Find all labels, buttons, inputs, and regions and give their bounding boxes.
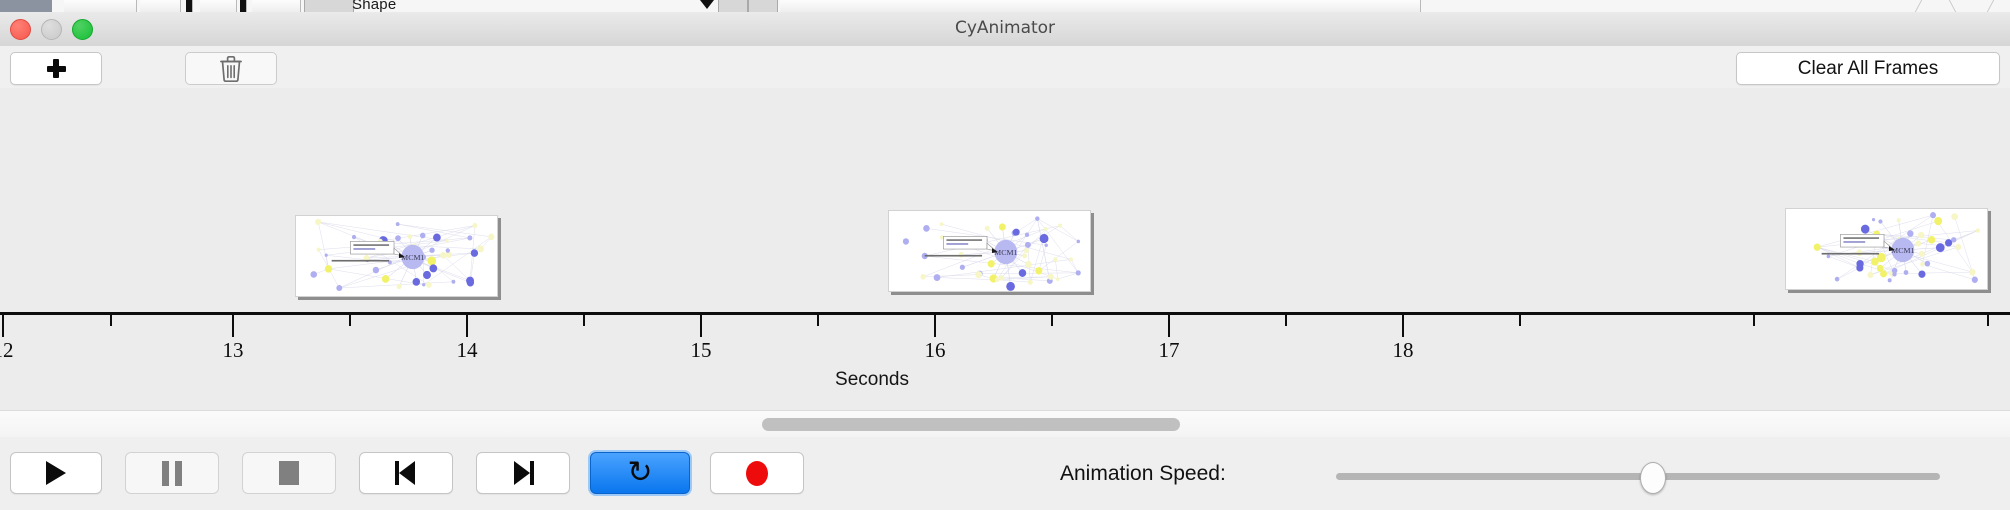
cyanimator-window: Shape CyAnimator Clear All Fr (0, 0, 2010, 510)
ruler-tick-label: 16 (925, 338, 946, 363)
background-app-label: Shape (352, 0, 396, 12)
background-button (748, 0, 778, 12)
skip-back-button[interactable] (359, 452, 453, 494)
record-icon (746, 461, 768, 486)
svg-text:MCM1: MCM1 (1891, 246, 1914, 255)
pause-icon (162, 461, 182, 486)
ruler-tick-major (1402, 315, 1404, 337)
timeline-frame[interactable]: MCM1 (295, 215, 498, 297)
frame-track: MCM1MCM1MCM1 (0, 88, 2010, 312)
ruler-tick-minor (1753, 315, 1755, 326)
background-marker-icon (700, 0, 714, 9)
background-button (718, 0, 748, 12)
ruler-tick-minor (1519, 315, 1521, 326)
svg-text:MCM1: MCM1 (401, 253, 424, 262)
ruler-baseline (0, 312, 2010, 315)
background-segment (252, 0, 301, 12)
pause-button[interactable] (125, 452, 219, 494)
svg-text:MCM1: MCM1 (994, 248, 1017, 257)
ruler-tick-minor (817, 315, 819, 326)
background-button (304, 0, 354, 12)
record-button[interactable] (710, 452, 804, 494)
play-icon (46, 461, 66, 485)
background-dark-block (0, 0, 52, 12)
frame-thumbnail-graph: MCM1 (1786, 209, 1987, 289)
frame-toolbar: Clear All Frames (0, 46, 2010, 89)
timeline-frame[interactable]: MCM1 (1785, 208, 1988, 290)
ruler-tick-label: 14 (457, 338, 478, 363)
ruler-tick-major (934, 315, 936, 337)
background-segment (140, 0, 181, 12)
skip-back-icon (395, 461, 417, 485)
ruler-tick-label: 18 (1393, 338, 1414, 363)
ruler-tick-minor (110, 315, 112, 326)
animation-speed-slider-thumb[interactable] (1640, 462, 1666, 494)
background-segment (64, 0, 137, 12)
ruler-tick-minor (1987, 315, 1989, 326)
playback-bar: ↻ Animation Speed: (0, 437, 2010, 510)
stop-icon (279, 461, 299, 485)
background-segment (240, 0, 247, 12)
skip-forward-icon (512, 461, 534, 485)
plus-icon (47, 59, 66, 78)
ruler-tick-major (232, 315, 234, 337)
ruler-tick-label: 12 (0, 338, 14, 363)
ruler-tick-label: 15 (691, 338, 712, 363)
loop-button[interactable]: ↻ (590, 452, 690, 494)
ruler-tick-minor (1051, 315, 1053, 326)
ruler-tick-label: 13 (223, 338, 244, 363)
background-segment (186, 0, 193, 12)
background-edge (1949, 0, 1956, 12)
delete-frame-button[interactable] (185, 52, 277, 85)
background-app-strip: Shape (0, 0, 2010, 12)
skip-forward-button[interactable] (476, 452, 570, 494)
title-bar[interactable]: CyAnimator (0, 12, 2010, 47)
ruler-tick-label: 17 (1159, 338, 1180, 363)
timeline-frame[interactable]: MCM1 (888, 210, 1091, 292)
clear-all-frames-button[interactable]: Clear All Frames (1736, 52, 2000, 85)
animation-speed-slider[interactable] (1336, 473, 1940, 480)
background-edge (1915, 0, 1922, 12)
ruler-tick-minor (1285, 315, 1287, 326)
frame-thumbnail-graph: MCM1 (296, 216, 497, 296)
animation-speed-label: Animation Speed: (1060, 462, 1226, 486)
trash-icon (220, 56, 242, 82)
window-title: CyAnimator (0, 12, 2010, 46)
ruler-tick-major (466, 315, 468, 337)
ruler-tick-major (700, 315, 702, 337)
play-button[interactable] (10, 452, 102, 494)
ruler-tick-major (2, 315, 4, 337)
background-segment (200, 0, 237, 12)
timeline-scrollbar-thumb[interactable] (762, 418, 1180, 431)
add-frame-button[interactable] (10, 52, 102, 85)
axis-title-label: Seconds (835, 369, 909, 390)
ruler-tick-minor (349, 315, 351, 326)
ruler-tick-minor (583, 315, 585, 326)
axis-title: Seconds (0, 369, 2010, 391)
stop-button[interactable] (242, 452, 336, 494)
background-segment (780, 0, 1421, 12)
ruler-tick-major (1168, 315, 1170, 337)
background-edge (1987, 0, 1994, 12)
timeline-scrollbar[interactable] (0, 410, 2010, 438)
loop-icon: ↻ (627, 458, 652, 488)
frame-thumbnail-graph: MCM1 (889, 211, 1090, 291)
timeline-ruler[interactable]: 12131415161718 Seconds (0, 312, 2010, 408)
